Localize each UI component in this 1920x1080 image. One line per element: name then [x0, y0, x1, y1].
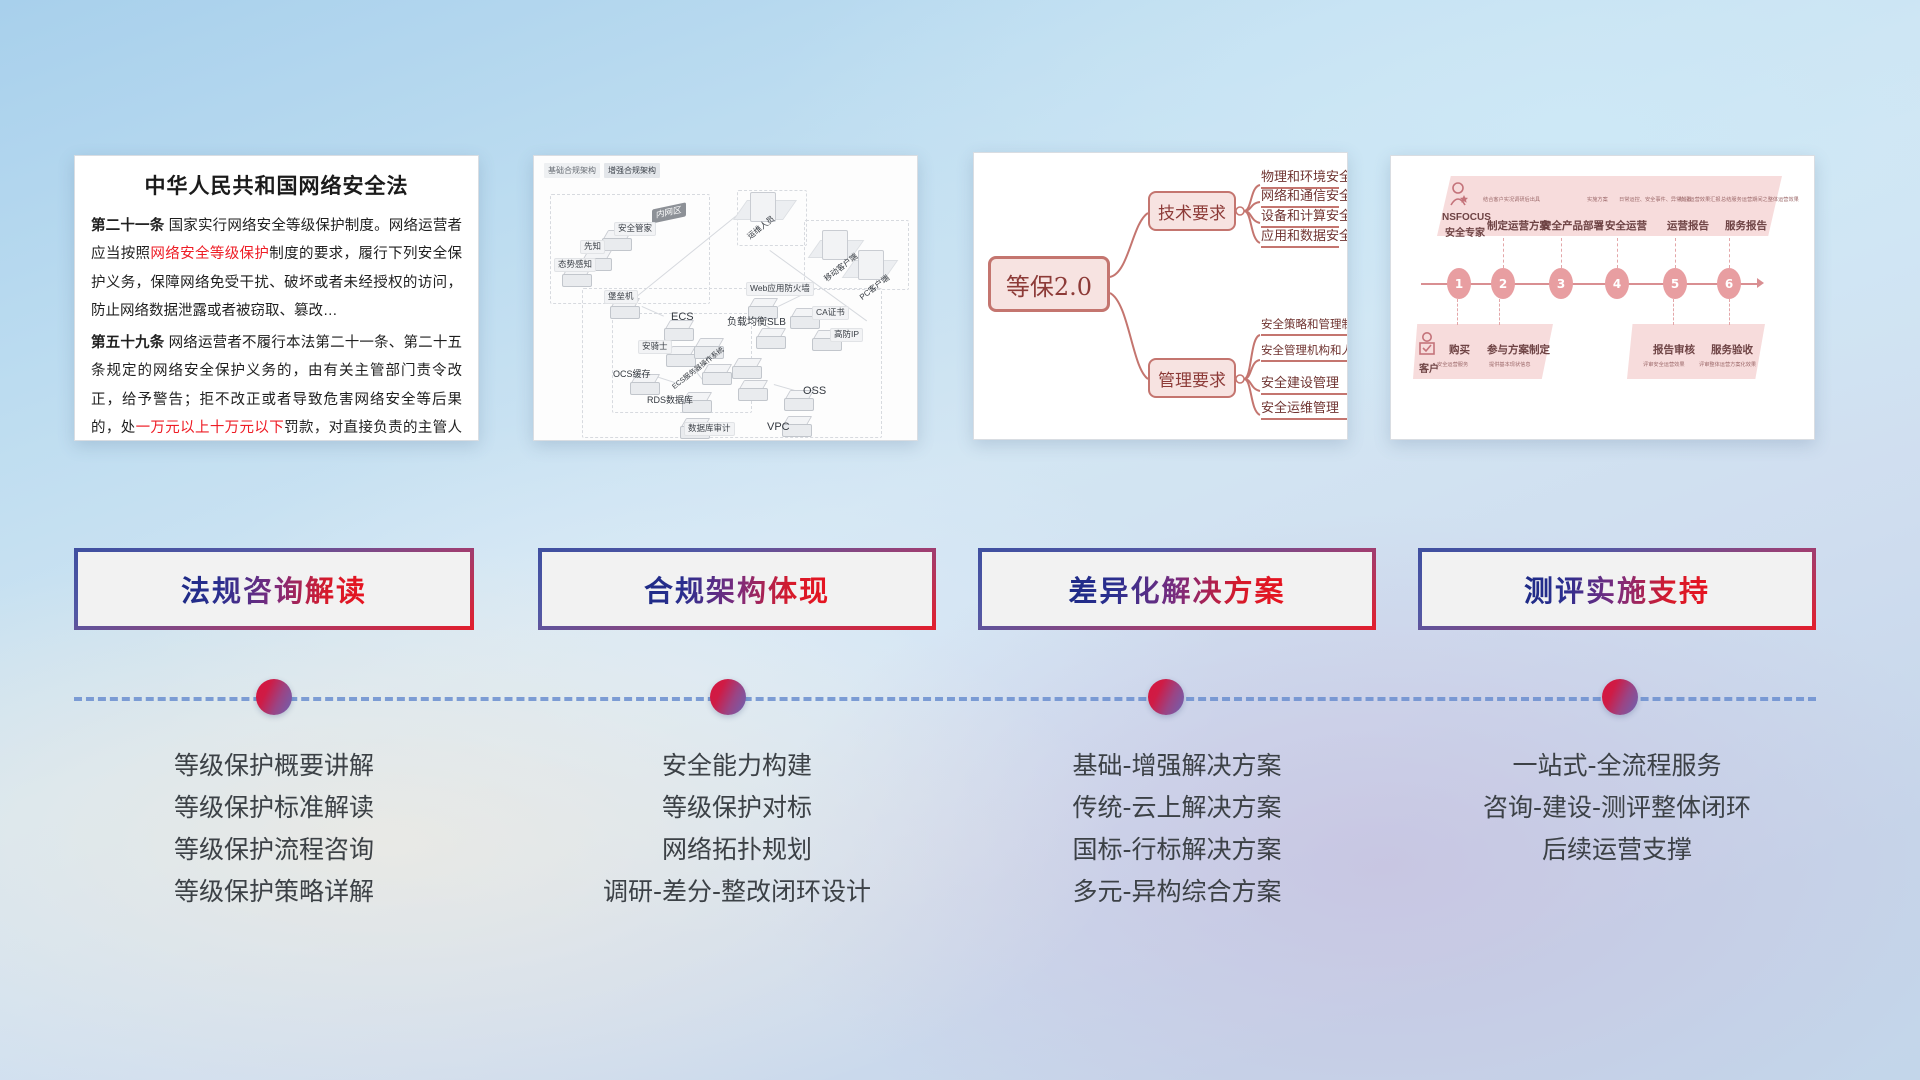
headline-title: 差异化解决方案 [1068, 568, 1285, 610]
timeline-node-1[interactable] [256, 679, 292, 715]
headline-title: 测评实施支持 [1524, 568, 1710, 610]
list-item: 调研-差分-整改闭环设计 [538, 871, 936, 913]
headline-boxes-row: 法规咨询解读 合规架构体现 差异化解决方案 测评实施支持 [0, 0, 1920, 1080]
headline-box-compliance-architecture[interactable]: 合规架构体现 [538, 548, 936, 630]
list-item: 后续运营支撑 [1418, 829, 1816, 871]
list-item: 国标-行标解决方案 [978, 829, 1376, 871]
headline-box-evaluation-support[interactable]: 测评实施支持 [1418, 548, 1816, 630]
headline-box-regulation-consulting[interactable]: 法规咨询解读 [74, 548, 474, 630]
list-item: 等级保护对标 [538, 787, 936, 829]
detail-list-regulation-consulting: 等级保护概要讲解 等级保护标准解读 等级保护流程咨询 等级保护策略详解 [74, 745, 474, 913]
list-item: 多元-异构综合方案 [978, 871, 1376, 913]
list-item: 等级保护策略详解 [74, 871, 474, 913]
timeline-node-4[interactable] [1602, 679, 1638, 715]
list-item: 一站式-全流程服务 [1418, 745, 1816, 787]
list-item: 等级保护概要讲解 [74, 745, 474, 787]
headline-box-differentiated-solutions[interactable]: 差异化解决方案 [978, 548, 1376, 630]
list-item: 等级保护流程咨询 [74, 829, 474, 871]
list-item: 网络拓扑规划 [538, 829, 936, 871]
list-item: 传统-云上解决方案 [978, 787, 1376, 829]
list-item: 等级保护标准解读 [74, 787, 474, 829]
timeline-node-3[interactable] [1148, 679, 1184, 715]
list-item: 基础-增强解决方案 [978, 745, 1376, 787]
detail-list-evaluation-support: 一站式-全流程服务 咨询-建设-测评整体闭环 后续运营支撑 [1418, 745, 1816, 871]
headline-title: 合规架构体现 [644, 568, 830, 610]
timeline-dashed-line [74, 697, 1816, 701]
headline-title: 法规咨询解读 [181, 568, 367, 610]
detail-list-compliance-architecture: 安全能力构建 等级保护对标 网络拓扑规划 调研-差分-整改闭环设计 [538, 745, 936, 913]
list-item: 咨询-建设-测评整体闭环 [1418, 787, 1816, 829]
detail-list-differentiated-solutions: 基础-增强解决方案 传统-云上解决方案 国标-行标解决方案 多元-异构综合方案 [978, 745, 1376, 913]
list-item: 安全能力构建 [538, 745, 936, 787]
timeline-node-2[interactable] [710, 679, 746, 715]
